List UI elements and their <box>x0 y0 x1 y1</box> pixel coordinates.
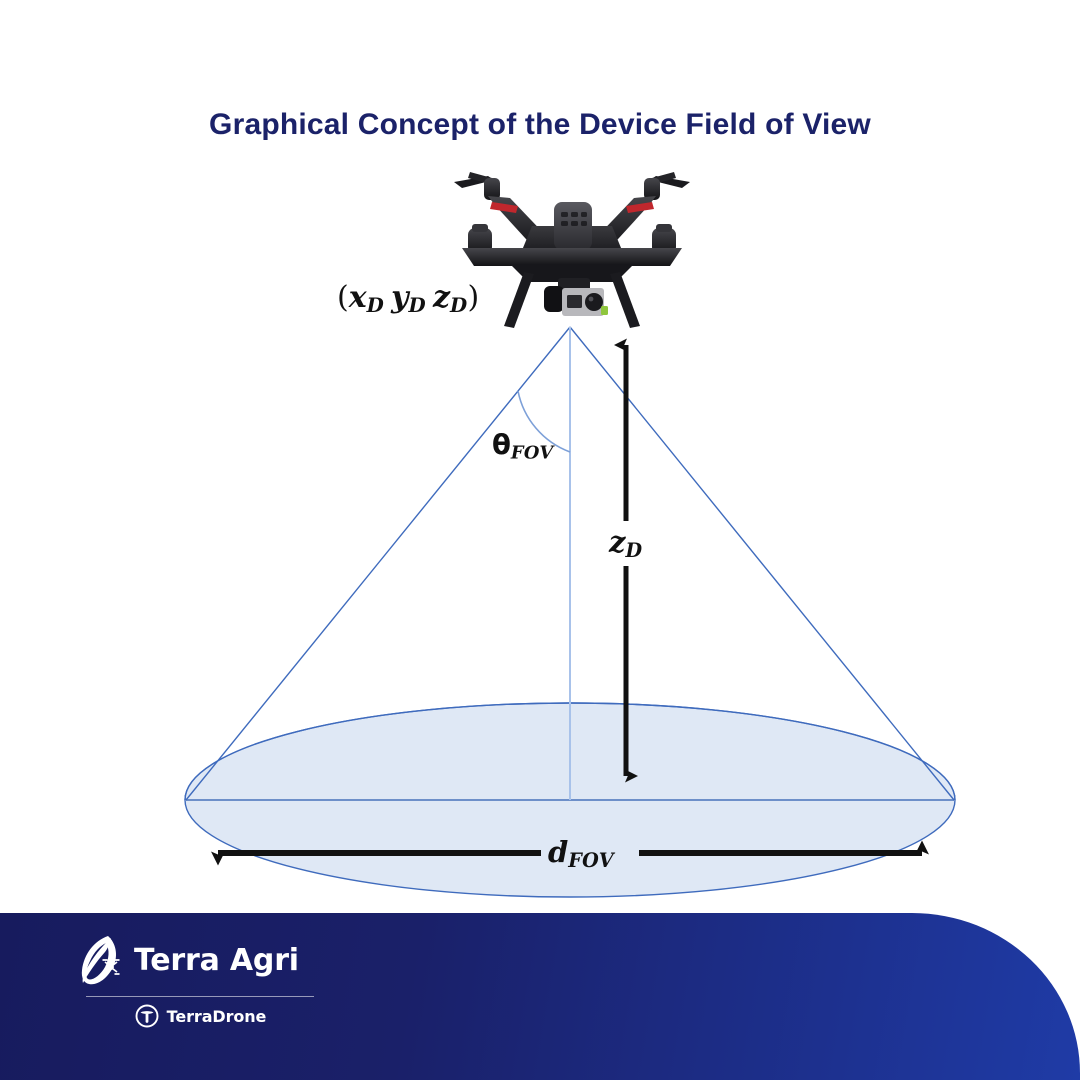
theta-symbol: θ <box>492 429 511 461</box>
brand-secondary-row: TerraDrone <box>78 1003 323 1029</box>
drone-chassis-bar <box>462 248 682 266</box>
fov-angle-label: θFOV <box>492 432 554 462</box>
footer-bar: Terra Agri TerraDrone <box>0 913 1080 1080</box>
coords-y-var: y <box>391 280 408 315</box>
terradrone-brand-name: TerraDrone <box>167 1007 267 1026</box>
theta-subscript: FOV <box>511 443 554 464</box>
brand-divider <box>86 996 314 997</box>
coords-x-var: x <box>349 280 367 315</box>
altitude-symbol: z <box>609 525 625 559</box>
fov-diameter-symbol: d <box>548 835 568 869</box>
brand-primary-row: Terra Agri <box>78 931 323 989</box>
coords-y-sub: D <box>409 293 426 317</box>
quadcopter-drone-icon <box>448 168 696 330</box>
altitude-subscript: D <box>625 539 642 562</box>
fov-diagram: (xDyDzD) θFOV zD dFOV <box>0 0 1080 913</box>
terra-agri-brand-name: Terra Agri <box>134 943 299 978</box>
drone-propeller-rear-left <box>454 172 500 200</box>
drone-camera-lens <box>585 293 603 311</box>
coords-z-var: z <box>433 280 450 315</box>
drone-camera-accent <box>601 306 608 315</box>
drone-camera-screen <box>567 295 582 308</box>
fov-diameter-label: dFOV <box>548 838 614 870</box>
coords-x-sub: D <box>367 293 384 317</box>
drone-propeller-rear-right <box>644 172 690 200</box>
coords-open-paren: ( <box>337 280 349 315</box>
terradrone-circle-logo-icon <box>135 1004 159 1028</box>
terra-agri-leaf-drone-logo-icon <box>78 934 126 986</box>
drone-landing-leg-left <box>504 272 534 328</box>
drone-camera-lens-glint <box>589 297 594 302</box>
fov-diameter-subscript: FOV <box>568 849 614 872</box>
drone-gimbal-arm <box>544 286 564 312</box>
drone-landing-leg-right <box>610 272 640 328</box>
coords-close-paren: ) <box>468 280 480 315</box>
coords-z-sub: D <box>450 293 467 317</box>
drone-position-label: (xDyDzD) <box>337 283 479 316</box>
footer-brand-block: Terra Agri TerraDrone <box>78 931 323 1029</box>
altitude-label: zD <box>609 528 642 560</box>
